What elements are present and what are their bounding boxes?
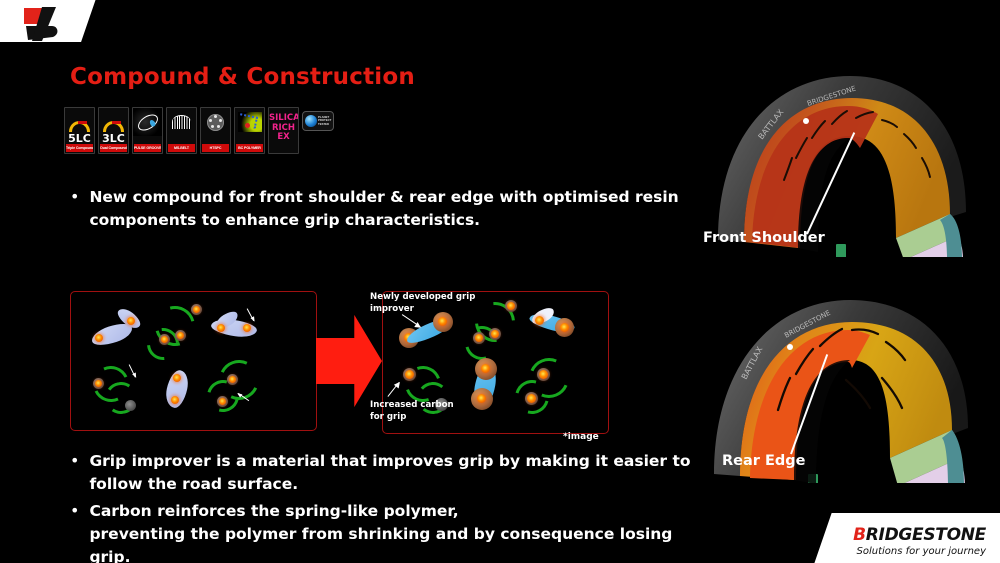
- grip-particle: [95, 334, 103, 342]
- page-title: Compound & Construction: [70, 64, 415, 90]
- grip-particle: [475, 334, 483, 342]
- callout-arrow-icon: [246, 308, 254, 321]
- grip-particle: [217, 324, 225, 332]
- bullet-dot-icon: •: [70, 500, 79, 522]
- bridgestone-wordmark-rest: RIDGESTONE: [866, 525, 986, 545]
- image-disclaimer: *image: [563, 432, 599, 442]
- grip-particle: [219, 398, 226, 405]
- grip-particle: [481, 364, 490, 373]
- badge-pulse-groove-sub: PULSE GROOVE: [134, 144, 161, 152]
- grip-particle: [95, 380, 102, 387]
- brand-tagline: Solutions for your journey: [816, 546, 986, 557]
- bullet-dot-icon: •: [70, 186, 79, 208]
- grip-particle: [243, 324, 251, 332]
- badge-5lc[interactable]: 5LC Triple Compound: [64, 107, 95, 154]
- bullet-block-bottom: • Grip improver is a material that impro…: [70, 450, 710, 563]
- bullet-bottom-text-1: Grip improver is a material that improve…: [89, 450, 710, 496]
- grip-particle: [405, 370, 414, 379]
- callout-dot: [787, 344, 793, 350]
- badge-planet-protect-label: PLANET PROTECT TESTED: [318, 116, 331, 126]
- bullet-bottom-text-2: Carbon reinforces the spring-like polyme…: [89, 500, 710, 563]
- bullet-item: • Carbon reinforces the spring-like poly…: [70, 500, 710, 563]
- carbon-particle: [125, 400, 136, 411]
- grip-particle: [229, 376, 236, 383]
- badge-bc-polymer[interactable]: BC POLYMER: [234, 107, 265, 154]
- right-arrow-red-icon: [316, 313, 382, 409]
- bridgestone-wordmark: BRIDGESTONE: [816, 525, 986, 545]
- silica-rich-ex-icon: SILICA RICH EX: [269, 114, 298, 143]
- badge-htspc-sub: HTSPC: [202, 144, 229, 152]
- grip-particle: [173, 374, 181, 382]
- conventional-polymer-panel: [70, 291, 317, 431]
- badge-ms-belt[interactable]: MS-BELT: [166, 107, 197, 154]
- bc-polymer-icon: [235, 108, 264, 136]
- badge-3lc-label: 3LC: [99, 133, 128, 144]
- bridgestone-wordmark-initial: B: [853, 525, 866, 545]
- grip-particle: [127, 317, 135, 325]
- grip-particle: [161, 336, 168, 343]
- note-grip-improver: Newly developed grip improver: [370, 292, 500, 315]
- front-shoulder-label: Front Shoulder: [703, 230, 825, 246]
- badge-htspc[interactable]: HTSPC: [200, 107, 231, 154]
- badge-pulse-groove[interactable]: PULSE GROOVE: [132, 107, 163, 154]
- pulse-groove-icon: [133, 108, 162, 136]
- grip-particle: [171, 396, 179, 404]
- grip-particle: [438, 317, 447, 326]
- badge-bc-polymer-sub: BC POLYMER: [236, 144, 263, 152]
- technology-badge-strip: 5LC Triple Compound 3LC Dual Compound PU…: [64, 107, 334, 154]
- ms-belt-icon: [167, 108, 196, 136]
- globe-icon: [305, 115, 317, 127]
- badge-ms-belt-sub: MS-BELT: [168, 144, 195, 152]
- badge-planet-protect[interactable]: PLANET PROTECT TESTED: [302, 111, 334, 131]
- callout-arrow-icon: [128, 364, 135, 377]
- bullet-item: • Grip improver is a material that impro…: [70, 450, 710, 496]
- badge-silica-rich-ex[interactable]: SILICA RICH EX: [268, 107, 299, 154]
- slide-canvas: Compound & Construction 5LC Triple Compo…: [0, 0, 1000, 563]
- bullet-item: • New compound for front shoulder & rear…: [70, 186, 690, 232]
- htspc-disc-icon: [201, 108, 230, 136]
- grip-particle: [507, 302, 515, 310]
- badge-3lc-sub: Dual Compound: [100, 144, 127, 152]
- front-tire-cutaway: BATTLAX BRIDGESTONE: [700, 62, 990, 257]
- transition-arrow: [316, 313, 382, 409]
- badge-5lc-label: 5LC: [65, 133, 94, 144]
- grip-particle: [527, 394, 536, 403]
- grip-particle: [560, 323, 569, 332]
- badge-3lc[interactable]: 3LC Dual Compound: [98, 107, 129, 154]
- badge-5lc-sub: Triple Compound: [66, 144, 93, 152]
- note-increased-carbon: Increased carbon for grip: [370, 400, 480, 423]
- bullet-top-text-1: New compound for front shoulder & rear e…: [89, 186, 690, 232]
- bridgestone-b-mark-icon: [12, 4, 82, 44]
- callout-dot: [803, 118, 809, 124]
- brand-lockup: BRIDGESTONE Solutions for your journey: [816, 525, 986, 557]
- grip-particle: [535, 316, 544, 325]
- grip-particle: [491, 330, 499, 338]
- grip-particle: [193, 306, 200, 313]
- grip-particle: [177, 332, 184, 339]
- grip-particle: [539, 370, 548, 379]
- bullet-dot-icon: •: [70, 450, 79, 472]
- rear-edge-label: Rear Edge: [722, 453, 805, 469]
- bullet-block-top: • New compound for front shoulder & rear…: [70, 186, 690, 232]
